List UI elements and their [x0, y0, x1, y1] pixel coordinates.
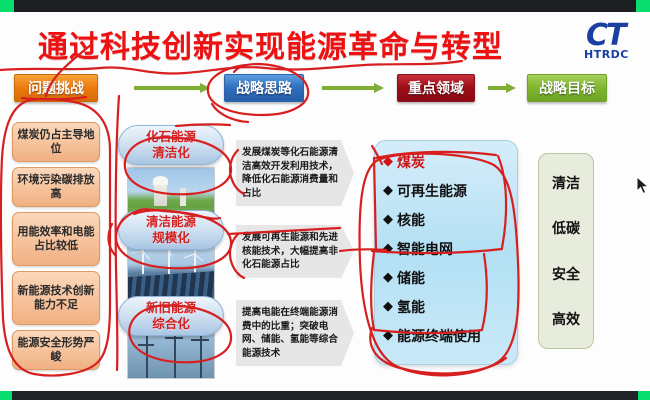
- strategy-pill-2-line2: 规模化: [152, 230, 190, 246]
- description-block-1: 发展煤炭等化石能源清洁高效开发利用技术，降低化石能源消费量和占比: [236, 140, 354, 206]
- key-area-item-coal[interactable]: ◆ 煤炭: [383, 147, 517, 176]
- key-area-label: 煤炭: [397, 152, 425, 172]
- key-area-label: 氢能: [397, 297, 425, 317]
- key-area-item-renewables[interactable]: ◆ 可再生能源: [383, 176, 517, 205]
- goal-item-safe: 安全: [552, 264, 580, 284]
- diamond-bullet-icon: ◆: [383, 184, 393, 197]
- strategy-pill-2[interactable]: 清洁能源 规模化: [118, 210, 224, 250]
- description-block-3: 提高电能在终端能源消费中的比重；突破电网、储能、氢能等综合能源技术: [236, 300, 354, 366]
- key-area-item-end-use[interactable]: ◆ 能源终端使用: [383, 321, 517, 350]
- slide-canvas: 通过科技创新实现能源革命与转型 CT HTRDC 问题挑战 战略思路 重点领域 …: [0, 12, 650, 391]
- problem-box-2[interactable]: 环境污染碳排放高: [12, 167, 100, 207]
- window-top-bar: [0, 0, 650, 12]
- diamond-bullet-icon: ◆: [383, 300, 393, 313]
- key-area-item-smart-grid[interactable]: ◆ 智能电网: [383, 234, 517, 263]
- diamond-bullet-icon: ◆: [383, 271, 393, 284]
- key-area-label: 能源终端使用: [397, 326, 481, 346]
- flow-step-strategy[interactable]: 战略思路: [224, 74, 304, 102]
- description-block-2: 发展可再生能源和先进核能技术，大幅提高非化石能源占比: [236, 225, 354, 278]
- strategy-photo-strip: [127, 167, 215, 379]
- goal-item-low-carbon: 低碳: [552, 218, 580, 238]
- diamond-bullet-icon: ◆: [383, 242, 393, 255]
- flow-arrow-3: [488, 83, 516, 93]
- strategy-pill-1[interactable]: 化石能源 清洁化: [118, 125, 224, 165]
- strategy-pill-3-line2: 综合化: [152, 316, 190, 332]
- mouse-cursor-icon: [636, 176, 650, 196]
- key-area-label: 可再生能源: [397, 181, 467, 201]
- goal-item-clean: 清洁: [552, 173, 580, 193]
- logo-wordmark: HTRDC: [584, 48, 629, 61]
- key-areas-panel: ◆ 煤炭 ◆ 可再生能源 ◆ 核能 ◆ 智能电网 ◆ 储能 ◆ 氢能: [374, 140, 518, 365]
- diamond-bullet-icon: ◆: [383, 213, 393, 226]
- flow-arrow-2: [322, 83, 384, 93]
- strategy-pill-3[interactable]: 新旧能源 综合化: [118, 296, 224, 336]
- key-area-label: 储能: [397, 268, 425, 288]
- flow-step-goals[interactable]: 战略目标: [527, 74, 607, 102]
- key-area-item-storage[interactable]: ◆ 储能: [383, 263, 517, 292]
- strategy-pill-2-line1: 清洁能源: [146, 214, 196, 230]
- goals-panel: 清洁 低碳 安全 高效: [538, 153, 594, 349]
- key-area-label: 核能: [397, 210, 425, 230]
- goal-item-efficient: 高效: [552, 309, 580, 329]
- diamond-bullet-icon: ◆: [383, 155, 393, 168]
- accent-marker-right: [636, 0, 650, 12]
- accent-marker-bottom-left: [0, 391, 12, 400]
- strategy-pill-1-line2: 清洁化: [152, 145, 190, 161]
- flow-step-key-areas[interactable]: 重点领域: [397, 74, 475, 102]
- strategy-pill-1-line1: 化石能源: [146, 129, 196, 145]
- accent-marker-bottom-right: [638, 391, 650, 400]
- accent-marker-left: [0, 0, 14, 12]
- key-area-item-nuclear[interactable]: ◆ 核能: [383, 205, 517, 234]
- key-area-item-hydrogen[interactable]: ◆ 氢能: [383, 292, 517, 321]
- htrdc-logo: CT HTRDC: [582, 18, 648, 62]
- page-title: 通过科技创新实现能源革命与转型: [38, 22, 503, 66]
- window-bottom-bar: [0, 391, 650, 400]
- problem-box-1[interactable]: 煤炭仍占主导地位: [12, 122, 100, 162]
- problem-box-4[interactable]: 新能源技术创新能力不足: [12, 271, 100, 325]
- problem-box-3[interactable]: 用能效率和电能占比较低: [12, 212, 100, 266]
- flow-step-problems[interactable]: 问题挑战: [14, 74, 98, 102]
- screenshot-root: 通过科技创新实现能源革命与转型 CT HTRDC 问题挑战 战略思路 重点领域 …: [0, 0, 650, 400]
- problem-box-5[interactable]: 能源安全形势严峻: [12, 330, 100, 370]
- strategy-pill-3-line1: 新旧能源: [146, 300, 196, 316]
- flow-arrow-1: [134, 83, 210, 93]
- key-area-label: 智能电网: [397, 239, 453, 259]
- diamond-bullet-icon: ◆: [383, 329, 393, 342]
